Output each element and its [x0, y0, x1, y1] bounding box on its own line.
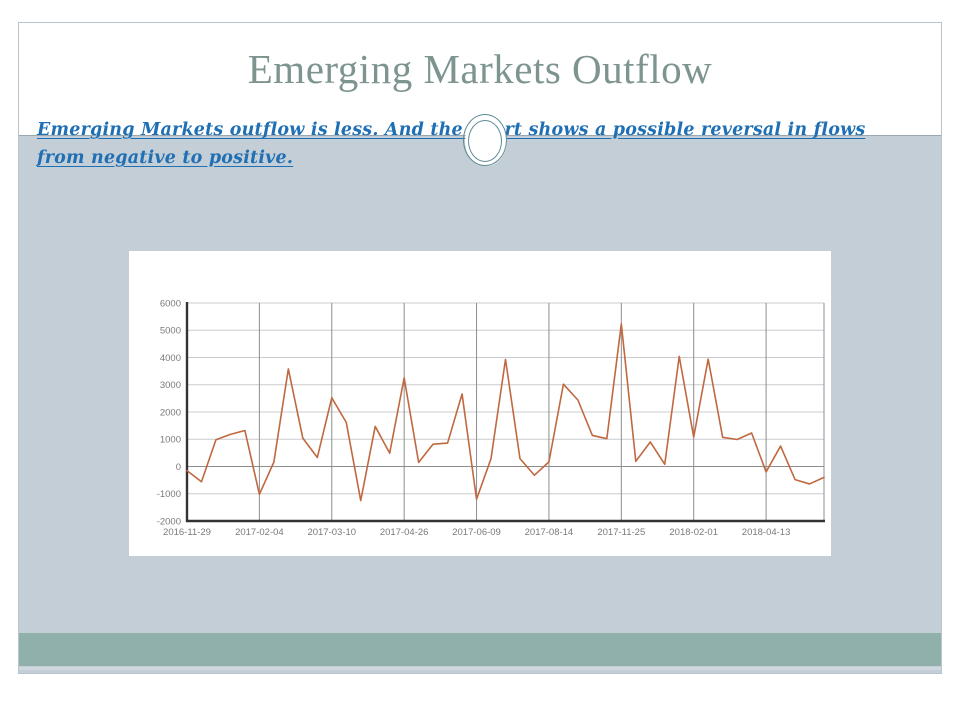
svg-text:-2000: -2000	[157, 516, 181, 527]
horizontal-gridlines	[187, 303, 824, 521]
svg-text:-1000: -1000	[157, 489, 181, 500]
svg-text:6000: 6000	[160, 298, 181, 309]
svg-text:2017-11-25: 2017-11-25	[597, 527, 645, 538]
svg-text:2017-06-09: 2017-06-09	[452, 527, 501, 538]
page-title: Emerging Markets Outflow	[19, 45, 941, 93]
footer-bar	[19, 633, 941, 666]
svg-text:2017-04-26: 2017-04-26	[380, 527, 429, 538]
y-axis-tick-labels: 6000500040003000200010000-1000-2000	[157, 298, 181, 527]
svg-text:1000: 1000	[160, 435, 181, 446]
svg-text:2016-11-29: 2016-11-29	[163, 527, 211, 538]
subtitle-text: Emerging Markets outflow is less. And th…	[37, 116, 907, 172]
footer-underline	[19, 667, 941, 670]
svg-text:2018-02-01: 2018-02-01	[669, 527, 718, 538]
x-axis-tick-labels: 2016-11-292017-02-042017-03-102017-04-26…	[163, 527, 790, 538]
svg-text:2017-02-04: 2017-02-04	[235, 527, 284, 538]
svg-text:0: 0	[176, 462, 181, 473]
svg-text:2017-08-14: 2017-08-14	[525, 527, 574, 538]
chart-container: 6000500040003000200010000-1000-2000 2016…	[129, 251, 831, 556]
svg-text:2018-04-13: 2018-04-13	[742, 527, 791, 538]
svg-text:5000: 5000	[160, 326, 181, 337]
svg-text:3000: 3000	[160, 380, 181, 391]
line-chart: 6000500040003000200010000-1000-2000 2016…	[129, 251, 831, 556]
svg-text:2000: 2000	[160, 407, 181, 418]
svg-text:4000: 4000	[160, 353, 181, 364]
slide-canvas: Emerging Markets Outflow Emerging Market…	[18, 22, 942, 674]
svg-text:2017-03-10: 2017-03-10	[307, 527, 356, 538]
